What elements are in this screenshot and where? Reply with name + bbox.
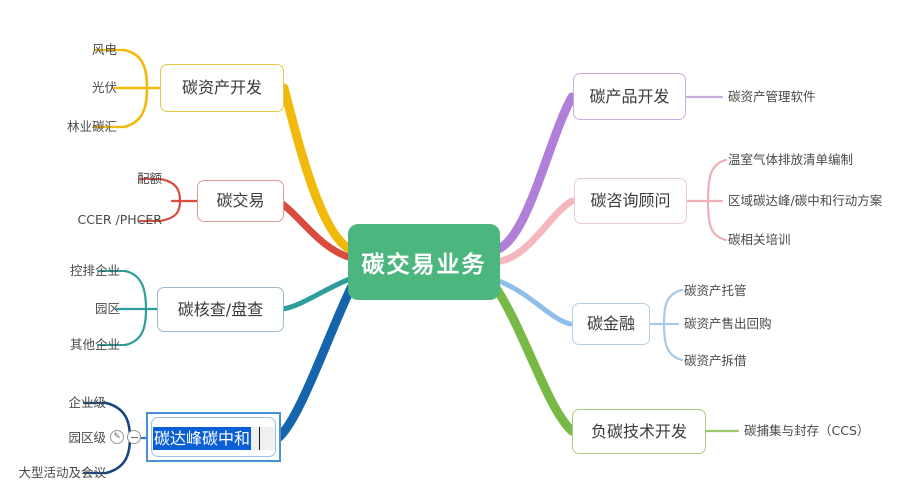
branch-node-carbon-peak-neutrality-editing[interactable]: 碳达峰碳中和: [146, 412, 281, 462]
branch-node-carbon-consulting[interactable]: 碳咨询顾问: [574, 178, 687, 224]
leaf-label-tanzichanchaijie[interactable]: 碳资产拆借: [684, 355, 747, 368]
wire-negative-carbon-tech: [496, 288, 572, 431]
branch-label-carbon-product-development: 碳产品开发: [589, 89, 669, 105]
root-node[interactable]: 碳交易业务: [348, 224, 500, 300]
wire-carbon-finance: [496, 280, 570, 324]
root-node-label: 碳交易业务: [362, 245, 487, 279]
leaf-label-yuanquji[interactable]: 园区级: [68, 432, 106, 445]
leaf-label-qiyeji[interactable]: 企业级: [68, 397, 106, 410]
leaf-label-kongpaiqiye[interactable]: 控排企业: [70, 265, 120, 278]
text-caret: [259, 427, 260, 450]
leaf-label-daxinghuodong[interactable]: 大型活动及会议: [18, 467, 106, 480]
leaf-label-yuanqu[interactable]: 园区: [95, 303, 120, 316]
leaf-label-tanzichanguanli[interactable]: 碳资产管理软件: [728, 91, 816, 104]
wire-carbon-verification: [282, 278, 352, 309]
minus-glyph: [131, 437, 138, 438]
note-icon[interactable]: ✎: [110, 430, 124, 444]
wire-carbon-consulting: [496, 201, 572, 262]
branch-node-carbon-asset-development[interactable]: 碳资产开发: [160, 64, 284, 112]
edit-text-value: 碳达峰碳中和: [154, 431, 250, 447]
branch-node-carbon-product-development[interactable]: 碳产品开发: [573, 73, 686, 120]
branch-label-carbon-asset-development: 碳资产开发: [182, 80, 262, 96]
leaf-label-tanzichantuoguan[interactable]: 碳资产托管: [684, 285, 747, 298]
leaf-label-guangfu[interactable]: 光伏: [92, 82, 117, 95]
bracket-carbon-verification: [125, 271, 146, 345]
branch-node-carbon-finance[interactable]: 碳金融: [572, 303, 650, 345]
bracket-carbon-trading: [160, 179, 180, 221]
leaf-label-linyetanhui[interactable]: 林业碳汇: [67, 121, 117, 134]
leaf-label-quyutandafeng[interactable]: 区域碳达峰/碳中和行动方案: [728, 195, 882, 208]
branch-label-carbon-consulting: 碳咨询顾问: [590, 193, 670, 209]
leaf-label-wenshiqiti[interactable]: 温室气体排放清单编制: [728, 154, 853, 167]
mindmap-canvas[interactable]: 碳交易业务 碳资产开发 碳交易 碳核查/盘查 碳达峰碳中和 ✎ 碳产品开发 碳咨…: [0, 0, 900, 489]
branch-node-negative-carbon-tech[interactable]: 负碳技术开发: [572, 409, 706, 454]
branch-node-carbon-verification[interactable]: 碳核查/盘查: [157, 287, 284, 332]
bracket-carbon-consulting: [708, 160, 726, 240]
bracket-carbon-asset-development: [124, 50, 147, 127]
branch-label-negative-carbon-tech: 负碳技术开发: [591, 424, 687, 440]
wire-carbon-asset-development: [284, 88, 352, 250]
leaf-label-ccer-phcer[interactable]: CCER /PHCER: [78, 214, 162, 227]
branch-label-carbon-finance: 碳金融: [587, 316, 635, 332]
bracket-carbon-finance: [664, 290, 682, 360]
leaf-label-tanbujifengcun[interactable]: 碳捕集与封存（CCS）: [744, 425, 869, 438]
collapse-icon[interactable]: [127, 430, 141, 444]
wire-carbon-trading: [278, 201, 352, 258]
edit-text-selection[interactable]: 碳达峰碳中和: [153, 427, 251, 450]
leaf-label-tanxiangguanpeixun[interactable]: 碳相关培训: [728, 234, 791, 247]
branch-label-carbon-trading: 碳交易: [216, 193, 264, 209]
leaf-label-fengdian[interactable]: 风电: [92, 44, 117, 57]
branch-label-carbon-verification: 碳核查/盘查: [178, 302, 263, 318]
leaf-label-tanzichanshouchu[interactable]: 碳资产售出回购: [684, 318, 772, 331]
leaf-label-peie[interactable]: 配额: [137, 173, 162, 186]
wire-carbon-peak-neutrality: [278, 286, 352, 438]
wire-carbon-product-development: [496, 97, 572, 250]
branch-node-carbon-trading[interactable]: 碳交易: [197, 180, 284, 222]
leaf-label-qitaqiye[interactable]: 其他企业: [70, 339, 120, 352]
